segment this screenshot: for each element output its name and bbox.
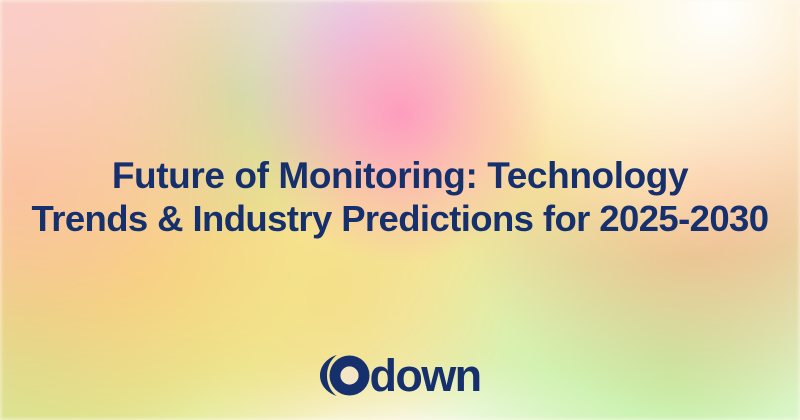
page-title-line-1: Future of Monitoring: Technology <box>18 154 782 197</box>
brand-wordmark: down <box>369 353 480 398</box>
cover-title-block: Future of Monitoring: Technology Trends … <box>0 154 800 240</box>
page-title: Future of Monitoring: Technology Trends … <box>18 154 782 240</box>
brand-logo-lockup: down <box>0 352 800 399</box>
blog-cover-card: Future of Monitoring: Technology Trends … <box>0 0 800 420</box>
odown-o-crescent-icon <box>319 352 371 399</box>
page-title-line-2: Trends & Industry Predictions for 2025-2… <box>18 197 782 240</box>
